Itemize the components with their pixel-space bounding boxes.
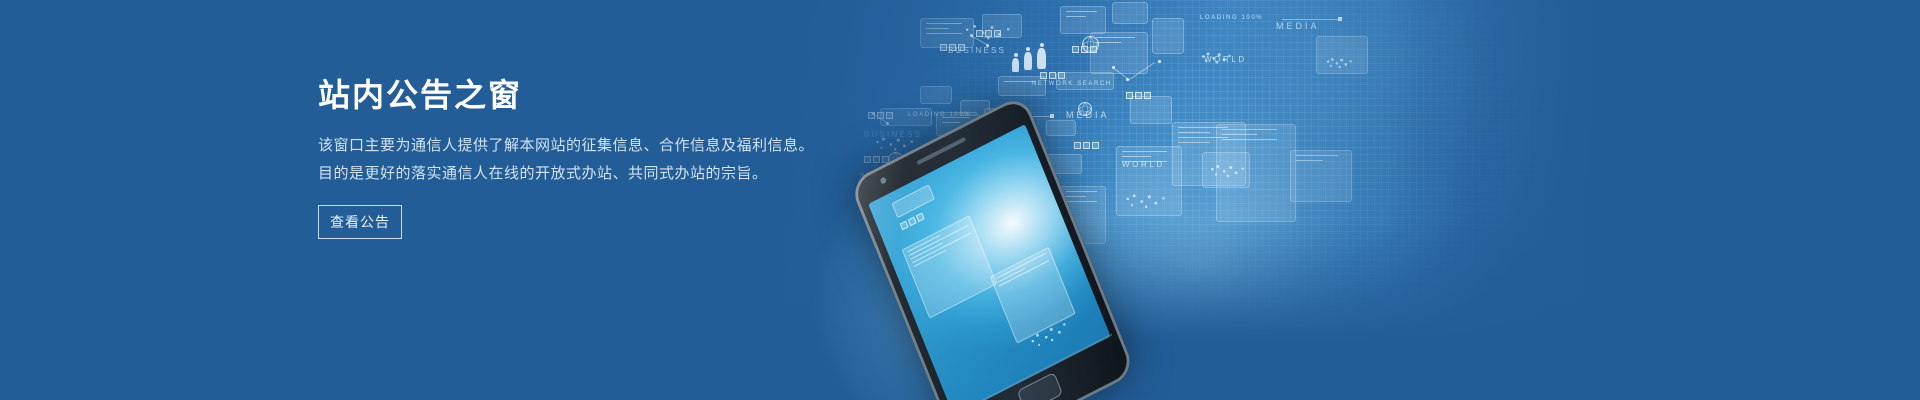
floating-panel <box>1116 146 1182 216</box>
network-edge <box>972 36 988 45</box>
floating-card <box>920 86 952 104</box>
banner-description: 该窗口主要为通信人提供了解本网站的征集信息、合作信息及福利信息。 目的是更好的落… <box>318 132 838 188</box>
world-map-glyph <box>1204 160 1250 182</box>
artwork-label-loading-mid: LOADING 100% <box>908 112 971 118</box>
floating-card <box>1152 18 1184 54</box>
globe-icon <box>1078 102 1092 116</box>
network-node <box>1112 66 1115 69</box>
screen-card <box>891 184 934 218</box>
floating-card <box>982 14 1022 38</box>
world-map-glyph <box>1322 54 1356 72</box>
floating-card <box>880 108 932 126</box>
announcement-banner: BUSINESS LOADING 100% LOADING 100% NETWO… <box>0 0 1920 400</box>
artwork-label-loading-top: LOADING 100% <box>1200 15 1263 21</box>
floating-card <box>998 76 1046 96</box>
floating-panel <box>1130 96 1172 124</box>
description-line-2: 目的是更好的落实通信人在线的开放式办站、共同式办站的宗旨。 <box>318 160 838 188</box>
floating-card <box>1060 6 1106 34</box>
network-edge <box>1128 62 1155 81</box>
view-announcement-button[interactable]: 查看公告 <box>318 205 402 239</box>
network-edge <box>1114 68 1128 78</box>
world-map-glyph <box>956 18 1018 46</box>
floating-panel <box>1290 150 1352 202</box>
screen-card <box>902 215 998 318</box>
artwork-label-business: BUSINESS <box>948 46 1006 55</box>
person-icon <box>1024 52 1032 70</box>
floating-panel <box>1172 122 1246 186</box>
world-map-glyph <box>1118 188 1172 214</box>
floating-panel <box>1316 36 1368 74</box>
square-cluster-icon <box>940 44 965 51</box>
description-line-1: 该窗口主要为通信人提供了解本网站的征集信息、合作信息及福利信息。 <box>318 132 838 160</box>
square-cluster-icon <box>1072 46 1097 53</box>
artwork-label-world-small: WORLD <box>1204 55 1247 64</box>
artwork-label-media-right: MEDIA <box>1276 21 1320 31</box>
network-node <box>986 44 989 47</box>
banner-content: 站内公告之窗 该窗口主要为通信人提供了解本网站的征集信息、合作信息及福利信息。 … <box>318 0 878 400</box>
smartphone-device <box>849 94 1136 400</box>
artwork-progress-rule <box>1282 19 1338 20</box>
person-icon <box>1037 48 1046 69</box>
artwork-label-world-large: WORLD <box>1122 160 1165 169</box>
world-map-glyph <box>1196 48 1236 68</box>
artwork-label-network-search-top: NETWORK SEARCH <box>1032 81 1112 87</box>
network-node <box>1158 60 1161 63</box>
network-node <box>970 34 973 37</box>
square-cluster-icon <box>1126 92 1151 99</box>
floating-card <box>1056 72 1114 90</box>
floating-card <box>1112 2 1148 24</box>
page-title: 站内公告之窗 <box>318 76 522 114</box>
floating-panel <box>1216 124 1296 222</box>
globe-icon <box>1082 36 1099 53</box>
person-icon <box>1012 58 1019 72</box>
network-node <box>1126 78 1129 81</box>
floating-panel <box>1202 152 1250 188</box>
square-cluster-icon <box>1074 142 1099 149</box>
floating-card <box>1046 120 1076 136</box>
artwork-label-media-left: MEDIA <box>1066 110 1110 120</box>
square-cluster-icon <box>976 30 1001 37</box>
network-node <box>886 122 889 125</box>
floating-card <box>920 18 974 48</box>
floating-panel <box>1090 32 1148 74</box>
square-cluster-icon <box>1040 72 1065 79</box>
